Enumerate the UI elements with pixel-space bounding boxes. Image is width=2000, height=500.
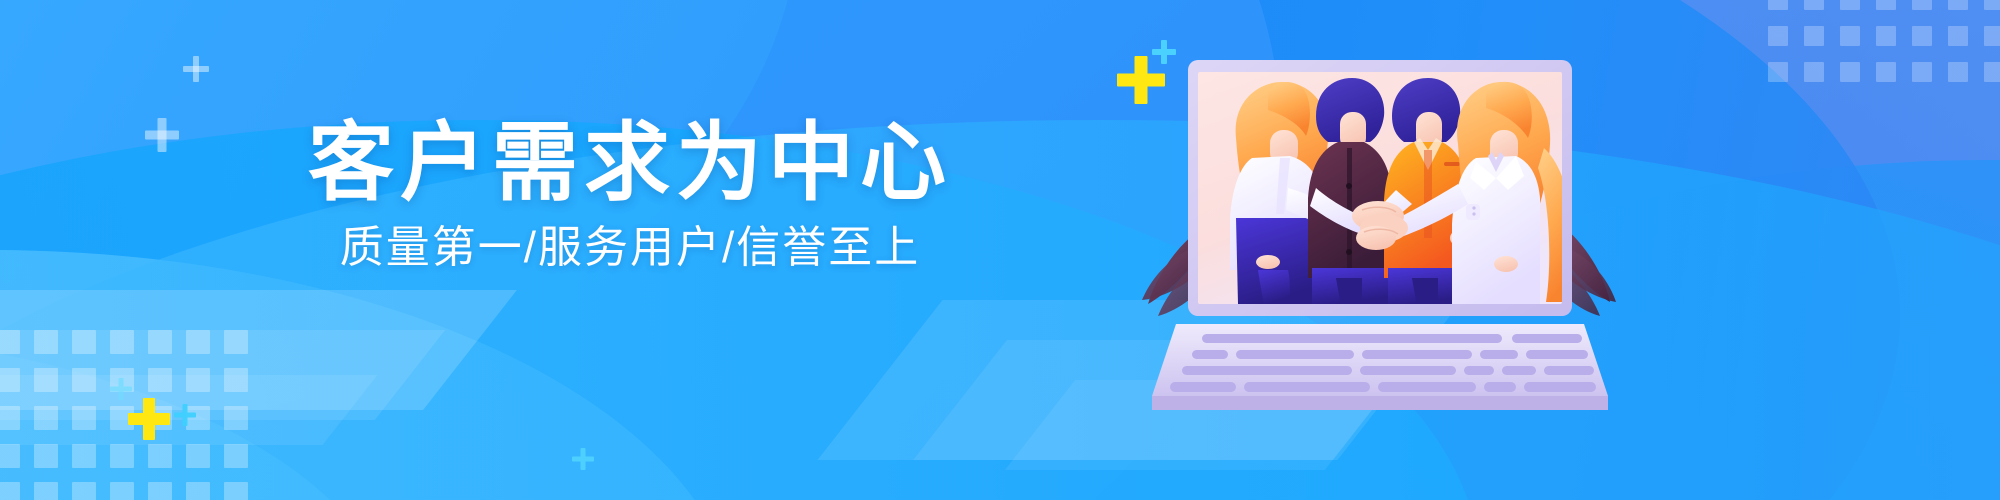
background-wave-bottom-left <box>0 330 400 500</box>
plus-icon-white-mid <box>145 118 179 152</box>
plus-icon-cyan-bottom <box>174 404 196 426</box>
dot-grid-bottom-left <box>0 330 250 500</box>
plus-icon-cyan-bottom-2 <box>110 378 132 400</box>
dot-grid-top-right <box>1768 0 2000 84</box>
banner-text-block: 客户需求为中心 质量第一/服务用户/信誉至上 <box>250 118 1010 275</box>
diagonal-band-2 <box>0 330 445 420</box>
diagonal-band-3 <box>0 375 377 445</box>
laptop-team-illustration <box>1140 38 1620 458</box>
plus-icon-yellow-bottom <box>128 398 170 440</box>
plus-icon-white-top <box>183 56 209 82</box>
plus-icon-cyan-center <box>572 448 594 470</box>
laptop-base-keyboard <box>1152 324 1608 410</box>
banner-headline: 客户需求为中心 <box>250 118 1010 208</box>
person-2 <box>1308 78 1392 304</box>
promo-banner: 客户需求为中心 质量第一/服务用户/信誉至上 <box>0 0 2000 500</box>
background-wave-lower-left <box>0 250 740 500</box>
banner-subtitle: 质量第一/服务用户/信誉至上 <box>250 222 1010 275</box>
diagonal-band-1 <box>0 290 517 410</box>
screen-scene-people <box>1230 78 1574 304</box>
